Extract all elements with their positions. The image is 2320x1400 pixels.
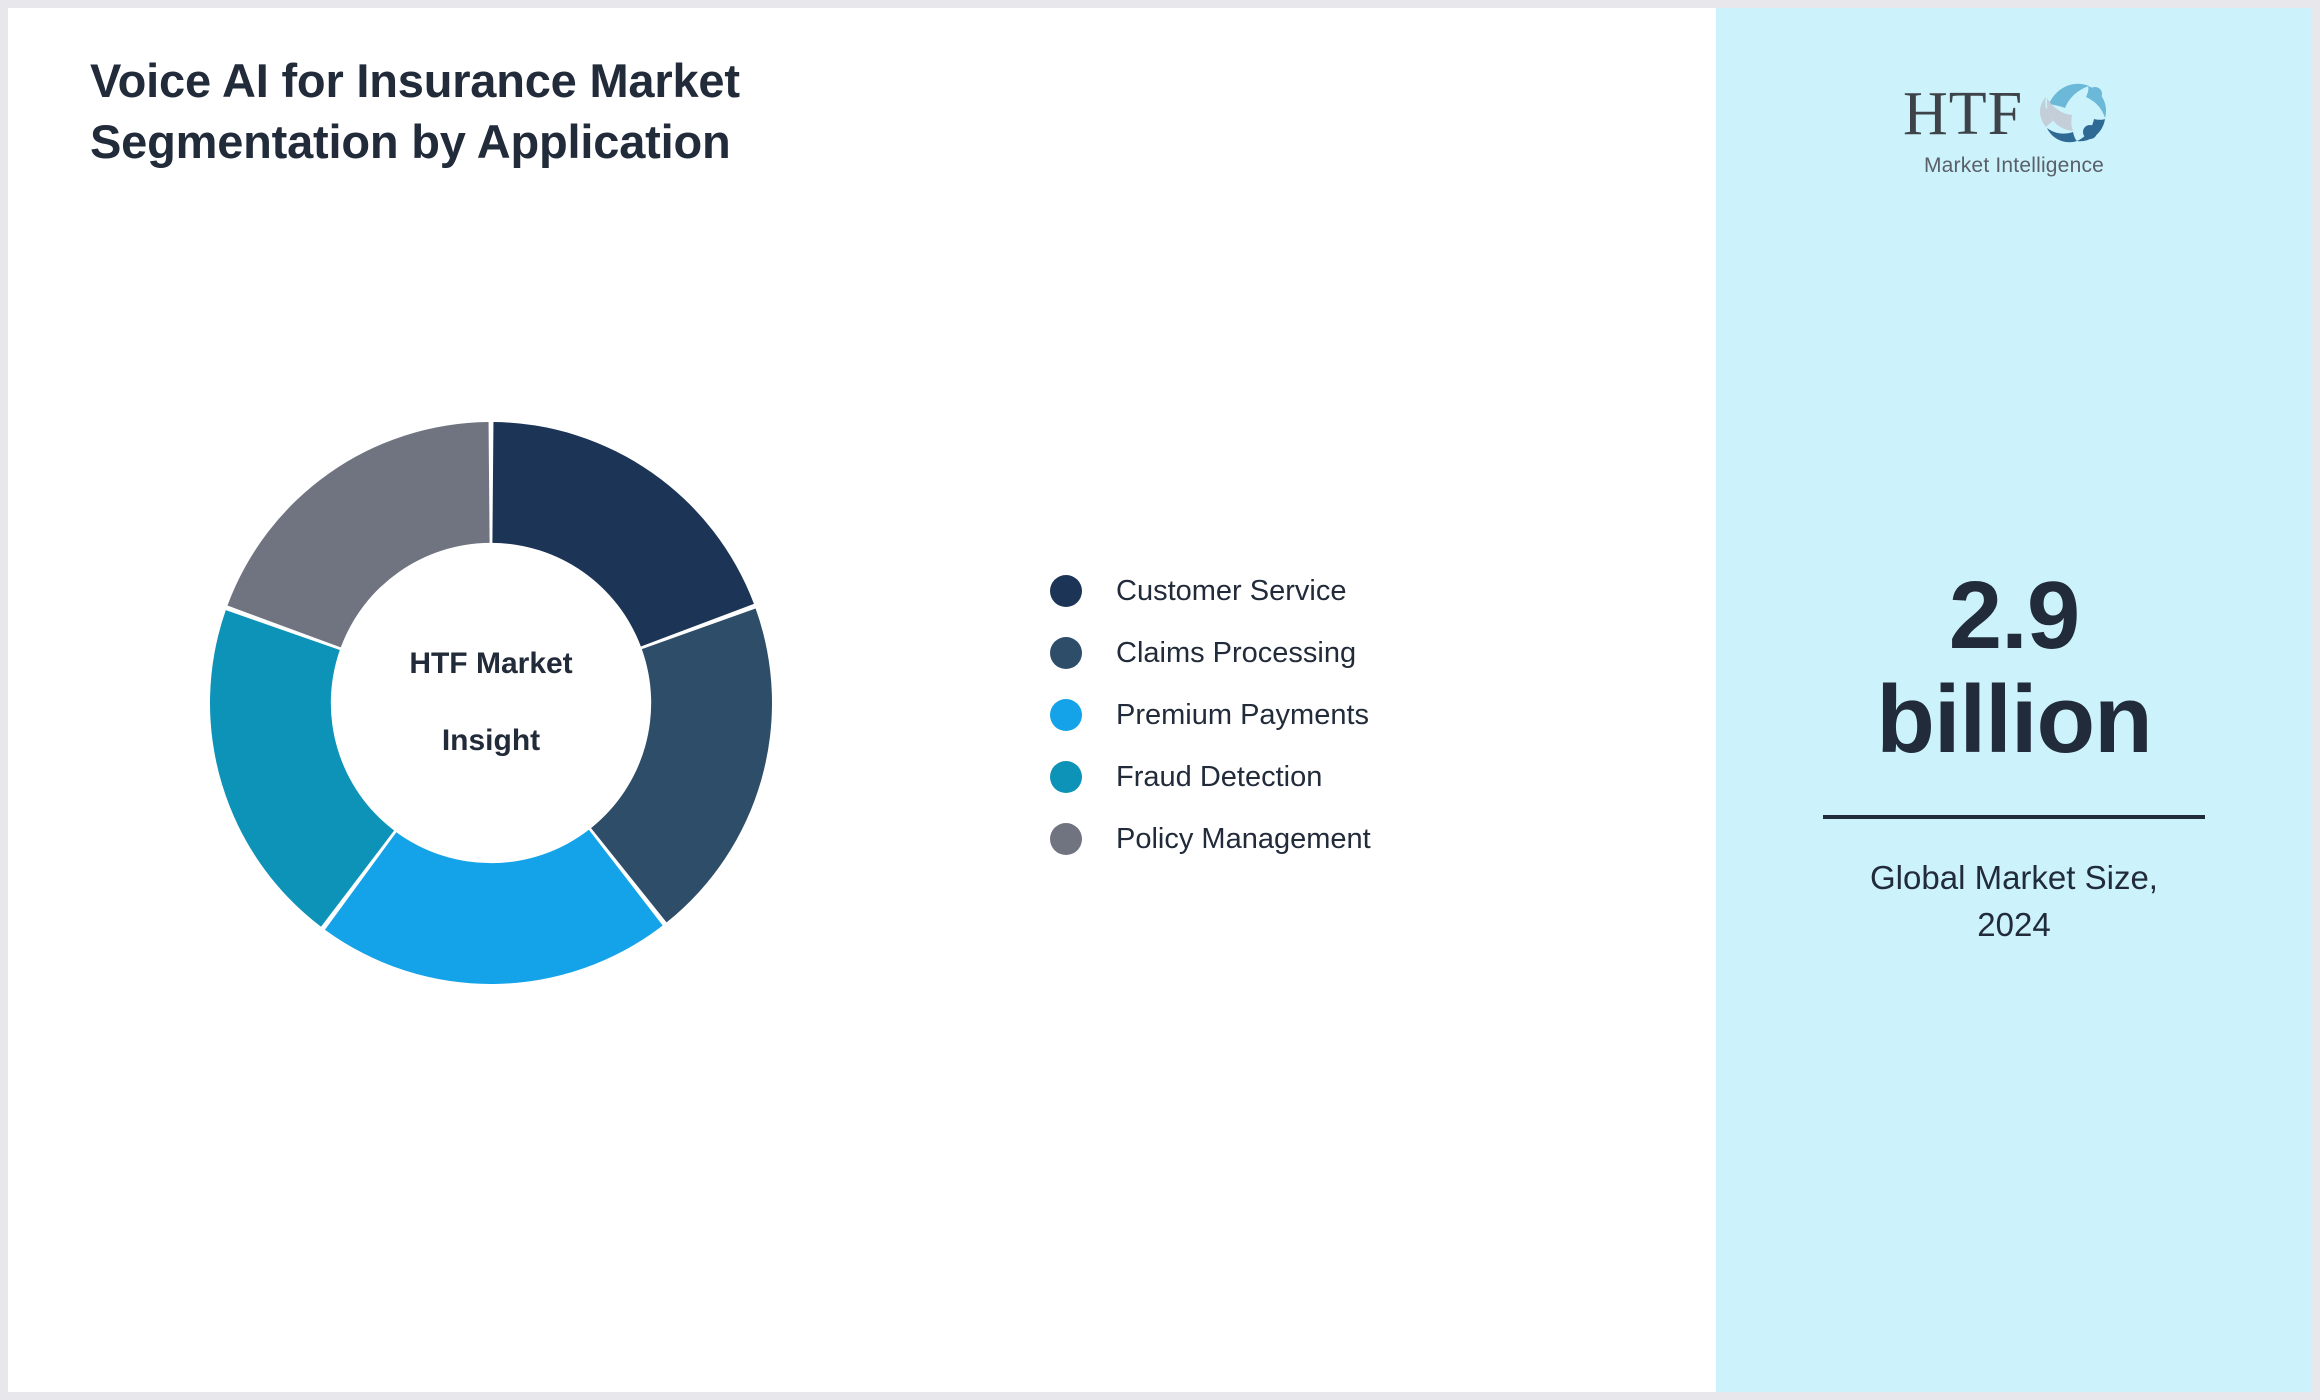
donut-slice[interactable] bbox=[227, 422, 489, 647]
logo-figures-icon bbox=[2040, 84, 2106, 142]
legend-item[interactable]: Fraud Detection bbox=[1050, 746, 1371, 808]
legend-swatch-icon bbox=[1050, 575, 1082, 607]
legend-item[interactable]: Policy Management bbox=[1050, 808, 1371, 870]
chart-legend: Customer ServiceClaims ProcessingPremium… bbox=[1050, 560, 1371, 870]
legend-swatch-icon bbox=[1050, 761, 1082, 793]
donut-slice-group bbox=[210, 422, 772, 984]
main-content-panel: Voice AI for Insurance Market Segmentati… bbox=[8, 8, 1716, 1392]
legend-item[interactable]: Claims Processing bbox=[1050, 622, 1371, 684]
legend-item[interactable]: Customer Service bbox=[1050, 560, 1371, 622]
stat-block: 2.9 billion Global Market Size, 2024 bbox=[1814, 564, 2214, 948]
legend-swatch-icon bbox=[1050, 699, 1082, 731]
logo-wordmark-text: HTF bbox=[1903, 80, 2023, 148]
legend-item-label: Claims Processing bbox=[1116, 639, 1356, 668]
stat-divider bbox=[1823, 815, 2205, 819]
infographic-card: Voice AI for Insurance Market Segmentati… bbox=[8, 8, 2312, 1392]
legend-item-label: Premium Payments bbox=[1116, 701, 1369, 730]
donut-slice[interactable] bbox=[492, 422, 754, 646]
donut-chart-svg bbox=[210, 422, 772, 984]
legend-swatch-icon bbox=[1050, 823, 1082, 855]
stat-value: 2.9 billion bbox=[1814, 564, 2214, 771]
legend-item-label: Customer Service bbox=[1116, 577, 1346, 606]
legend-item-label: Policy Management bbox=[1116, 825, 1371, 854]
donut-chart: HTF Market Insight bbox=[210, 422, 772, 984]
page-title: Voice AI for Insurance Market Segmentati… bbox=[90, 50, 990, 172]
legend-item-label: Fraud Detection bbox=[1116, 763, 1322, 792]
stat-caption: Global Market Size, 2024 bbox=[1814, 855, 2214, 947]
stat-side-panel: HTF Market Intelligence 2.9 billion bbox=[1716, 8, 2312, 1392]
brand-logo: HTF Market Intelligence bbox=[1889, 74, 2139, 178]
legend-swatch-icon bbox=[1050, 637, 1082, 669]
htf-logo-icon: HTF bbox=[1899, 74, 2129, 152]
brand-logo-tagline: Market Intelligence bbox=[1889, 154, 2139, 178]
legend-item[interactable]: Premium Payments bbox=[1050, 684, 1371, 746]
